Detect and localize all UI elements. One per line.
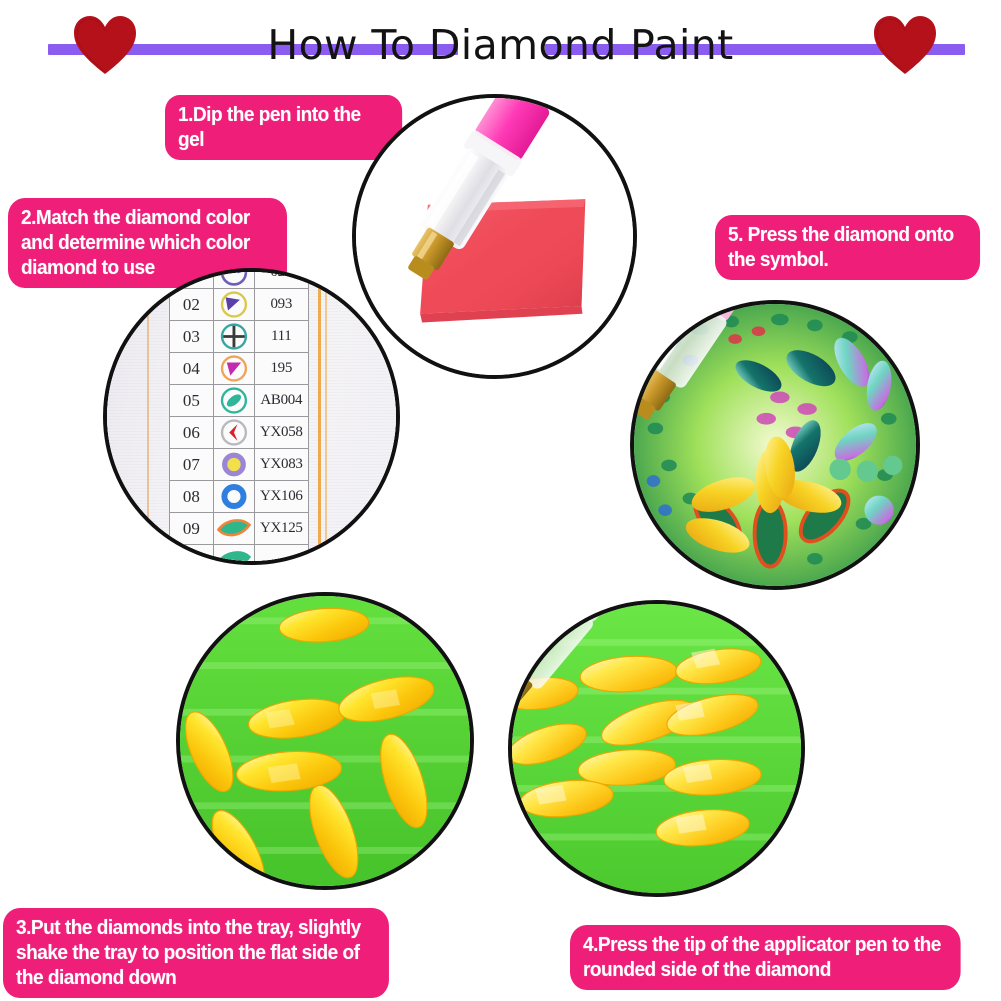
- chart-row-number: 06: [170, 417, 214, 449]
- chart-row-number: 09: [170, 513, 214, 545]
- table-row: 03 111: [170, 321, 309, 353]
- photo-pen-picks-diamond: [508, 600, 805, 897]
- dot-in-ring-icon: [213, 449, 254, 481]
- chart-row-code: 093: [254, 289, 308, 321]
- chart-row-code: 020: [254, 268, 308, 289]
- triangle-in-circle-icon: [213, 289, 254, 321]
- photo-dip-pen-into-gel-art: [356, 98, 633, 375]
- leaf-icon: [213, 513, 254, 545]
- chart-row-number: 10: [170, 545, 214, 566]
- table-row: 09 YX125: [170, 513, 309, 545]
- page-title: How To Diamond Paint: [0, 18, 1001, 72]
- table-row: 08 YX106: [170, 481, 309, 513]
- leaf-icon: [213, 545, 254, 566]
- photo-pen-picks-diamond-art: [512, 604, 801, 893]
- step-3-label: 3.Put the diamonds into the tray, slight…: [3, 908, 389, 998]
- chart-region: 01 020 02: [107, 272, 396, 561]
- photo-diamonds-in-tray-art: [180, 596, 470, 886]
- ellipse-in-circle-icon: [213, 385, 254, 417]
- chart-row-code: YX106: [254, 481, 308, 513]
- photo-diamonds-in-tray: [176, 592, 474, 890]
- chart-margin-line-right-2: [325, 272, 327, 561]
- step-5-label: 5. Press the diamond onto the symbol.: [715, 215, 980, 280]
- chart-row-code: YX125: [254, 513, 308, 545]
- photo-press-diamond-onto-symbol-art: [634, 304, 916, 586]
- plus-in-circle-icon: [213, 321, 254, 353]
- step-1-label: 1.Dip the pen into the gel: [165, 95, 402, 160]
- chart-row-number: 05: [170, 385, 214, 417]
- photo-press-diamond-onto-symbol: [630, 300, 920, 590]
- chart-margin-line-left: [147, 272, 149, 561]
- chart-row-number: 08: [170, 481, 214, 513]
- chart-row-number: 03: [170, 321, 214, 353]
- chart-row-code: YX058: [254, 417, 308, 449]
- table-row: 01 020: [170, 268, 309, 289]
- chart-row-number: 02: [170, 289, 214, 321]
- table-row: 04 195: [170, 353, 309, 385]
- double-dot-circle-icon: [213, 268, 254, 289]
- table-row: 06 YX058: [170, 417, 309, 449]
- chart-row-number: 07: [170, 449, 214, 481]
- page-header: How To Diamond Paint: [0, 0, 1001, 90]
- chart-margin-line-right: [318, 272, 321, 561]
- chart-row-code: 195: [254, 353, 308, 385]
- diamond-color-chart-table: 01 020 02: [169, 268, 309, 565]
- chart-row-number: 01: [170, 268, 214, 289]
- triangle-in-circle-icon: [213, 353, 254, 385]
- chart-row-code: 111: [254, 321, 308, 353]
- table-row: 02 093: [170, 289, 309, 321]
- step-4-label: 4.Press the tip of the applicator pen to…: [570, 925, 961, 990]
- table-row: 10: [170, 545, 309, 566]
- photo-diamond-color-chart: 01 020 02: [103, 268, 400, 565]
- table-row: 05 AB004: [170, 385, 309, 417]
- chart-row-code: YX083: [254, 449, 308, 481]
- chart-row-code: [254, 545, 308, 566]
- open-ring-icon: [213, 481, 254, 513]
- chart-row-code: AB004: [254, 385, 308, 417]
- arrow-in-circle-icon: [213, 417, 254, 449]
- table-row: 07 YX083: [170, 449, 309, 481]
- chart-row-number: 04: [170, 353, 214, 385]
